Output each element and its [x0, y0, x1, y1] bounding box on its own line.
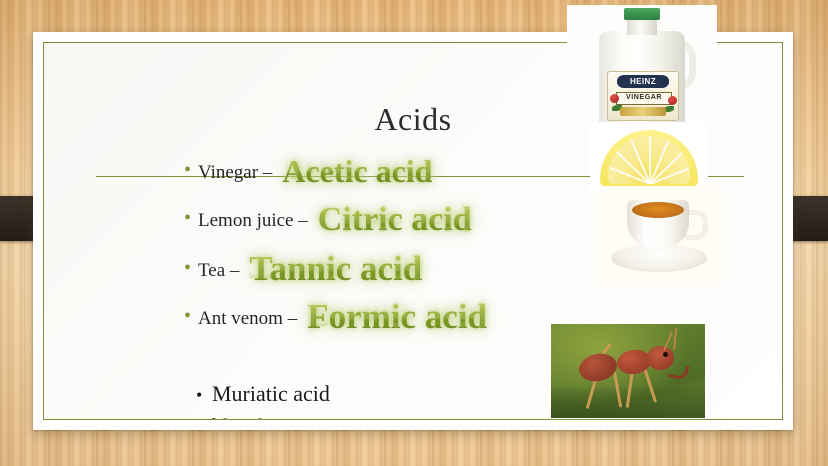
wordart-acetic-acid: Acetic acid [282, 155, 432, 187]
tea-liquid-shape [632, 202, 684, 218]
bullet-icon: • [184, 258, 198, 278]
berry-decor [668, 96, 677, 105]
ant-eye [663, 352, 668, 357]
wordart-formic-acid: Formic acid [307, 299, 487, 334]
lemon-segment [649, 150, 685, 184]
list-item-label: Vinegar – [198, 162, 272, 184]
list-item-label: Tea – [198, 260, 239, 282]
bullet-icon: • [196, 386, 212, 404]
lemon-slice-image [590, 122, 708, 194]
list-item-label: Ant venom – [198, 308, 297, 330]
wordart-citric-acid: Citric acid [318, 203, 472, 237]
bullet-icon: • [184, 208, 198, 228]
teacup-image [597, 186, 721, 286]
lemon-segment [615, 150, 651, 184]
wordart-tannic-acid: Tannic acid [249, 251, 422, 286]
list-item-label: bleach [212, 414, 269, 420]
list-item-label: Muriatic acid [212, 381, 330, 407]
jug-cap-shape [624, 8, 660, 20]
presentation-stage: Acids • Vinegar – Acetic acid • Lemon ju… [0, 0, 828, 466]
bullet-icon: • [184, 306, 198, 326]
product-text: VINEGAR [616, 92, 672, 105]
additional-acid-list: • Muriatic acid • bleach [196, 381, 330, 420]
vinegar-jug-image: HEINZ VINEGAR [567, 5, 717, 130]
jug-label-shape: HEINZ VINEGAR [607, 71, 679, 121]
gold-band-decor [620, 107, 666, 116]
ant-image [551, 324, 705, 418]
saucer-shape [611, 244, 707, 272]
brand-text: HEINZ [617, 75, 669, 88]
bullet-icon: • [184, 160, 198, 180]
list-item: • Muriatic acid [196, 381, 330, 407]
lemon-segment [649, 136, 651, 184]
bullet-icon: • [196, 419, 212, 420]
list-item-label: Lemon juice – [198, 210, 308, 232]
berry-decor [610, 94, 619, 103]
list-item: • bleach [196, 414, 330, 420]
